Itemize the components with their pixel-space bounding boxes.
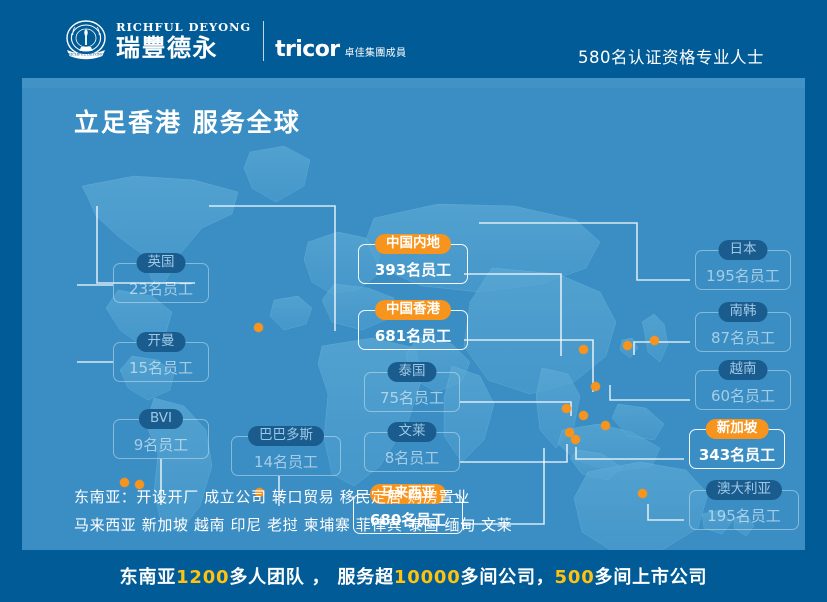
label-country-name: 澳大利亚 bbox=[706, 480, 782, 500]
label-country-name: 越南 bbox=[719, 360, 768, 380]
location-label-bvi[interactable]: BVI9名员工 bbox=[113, 419, 209, 459]
label-country-name: 中国内地 bbox=[375, 234, 451, 254]
service-note-line: 东南亚：开设开厂 成立公司 转口贸易 移民定居 购房置业 bbox=[74, 483, 512, 511]
location-label-barbados[interactable]: 巴巴多斯14名员工 bbox=[231, 436, 341, 476]
label-country-name: 泰国 bbox=[388, 362, 437, 382]
service-notes: 东南亚：开设开厂 成立公司 转口贸易 移民定居 购房置业 马来西亚 新加坡 越南… bbox=[74, 483, 512, 539]
label-box: 澳大利亚195名员工 bbox=[689, 490, 799, 530]
label-box: 泰国75名员工 bbox=[364, 372, 460, 412]
label-box: 日本195名员工 bbox=[695, 250, 791, 290]
location-label-japan[interactable]: 日本195名员工 bbox=[695, 250, 791, 290]
footer-text-segment: 东南亚 bbox=[120, 567, 176, 588]
slide-root: RICHFUL DEYONG RICHFUL DEYONG 瑞豐德永 trico… bbox=[0, 0, 827, 602]
footer-summary: 东南亚1200多人团队 ， 服务超10000多间公司，500多间上市公司 bbox=[120, 563, 708, 589]
label-headcount: 681名员工 bbox=[375, 328, 451, 344]
footer-text-segment: 多间上市公司 bbox=[595, 567, 708, 588]
label-box: 开曼15名员工 bbox=[113, 342, 209, 382]
label-country-name: 中国香港 bbox=[375, 300, 451, 320]
label-headcount: 14名员工 bbox=[254, 454, 318, 470]
footer-text-segment: 多人团队 ， 服务超 bbox=[229, 567, 394, 588]
location-label-uk[interactable]: 英国23名员工 bbox=[113, 263, 209, 303]
footer-accent-number: 500 bbox=[555, 567, 595, 588]
partner-subtitle: 卓佳集團成員 bbox=[344, 48, 406, 60]
location-label-korea[interactable]: 南韩87名员工 bbox=[695, 312, 791, 352]
label-headcount: 23名员工 bbox=[129, 281, 193, 297]
label-country-name: 英国 bbox=[137, 253, 186, 273]
label-headcount: 15名员工 bbox=[129, 360, 193, 376]
label-headcount: 9名员工 bbox=[134, 437, 189, 453]
location-label-cayman[interactable]: 开曼15名员工 bbox=[113, 342, 209, 382]
dot-singapore bbox=[571, 435, 580, 444]
svg-text:RICHFUL DEYONG: RICHFUL DEYONG bbox=[68, 52, 104, 56]
dot-vietnam bbox=[579, 411, 588, 420]
label-country-name: BVI bbox=[139, 409, 183, 429]
location-label-brunei[interactable]: 文莱8名员工 bbox=[364, 432, 460, 472]
label-box: 文莱8名员工 bbox=[364, 432, 460, 472]
label-box: 越南60名员工 bbox=[695, 370, 791, 410]
dot-uk bbox=[254, 323, 263, 332]
footer-accent-number: 10000 bbox=[394, 567, 461, 588]
label-country-name: 开曼 bbox=[137, 332, 186, 352]
label-headcount: 195名员工 bbox=[706, 268, 780, 284]
dot-brunei bbox=[601, 421, 610, 430]
label-box: 中国内地393名员工 bbox=[358, 244, 468, 284]
label-headcount: 87名员工 bbox=[711, 330, 775, 346]
crest-icon: RICHFUL DEYONG bbox=[63, 19, 109, 63]
label-box: BVI9名员工 bbox=[113, 419, 209, 459]
footer-accent-number: 1200 bbox=[176, 567, 229, 588]
label-headcount: 343名员工 bbox=[699, 447, 775, 463]
label-country-name: 巴巴多斯 bbox=[248, 426, 324, 446]
header-tagline: 580名认证资格专业人士 bbox=[578, 44, 764, 68]
label-box: 英国23名员工 bbox=[113, 263, 209, 303]
dot-thailand bbox=[562, 404, 571, 413]
dot-australia bbox=[638, 489, 647, 498]
map-overlay: 英国23名员工开曼15名员工BVI9名员工巴巴多斯14名员工中国内地393名员工… bbox=[22, 78, 805, 550]
dot-korea bbox=[623, 341, 632, 350]
label-headcount: 75名员工 bbox=[380, 390, 444, 406]
location-label-thailand[interactable]: 泰国75名员工 bbox=[364, 372, 460, 412]
footer-text-segment: 多间公司， bbox=[461, 567, 555, 588]
location-label-mainland[interactable]: 中国内地393名员工 bbox=[358, 244, 468, 284]
label-country-name: 日本 bbox=[719, 240, 768, 260]
dot-hongkong bbox=[591, 382, 600, 391]
label-box: 巴巴多斯14名员工 bbox=[231, 436, 341, 476]
label-headcount: 195名员工 bbox=[707, 508, 781, 524]
partner-logo-text: tricor bbox=[275, 39, 339, 61]
label-headcount: 60名员工 bbox=[711, 388, 775, 404]
location-label-hongkong[interactable]: 中国香港681名员工 bbox=[358, 310, 468, 350]
label-headcount: 393名员工 bbox=[375, 262, 451, 278]
label-country-name: 南韩 bbox=[719, 302, 768, 322]
service-note-line: 马来西亚 新加坡 越南 印尼 老挝 柬埔寨 菲律宾 泰国 缅甸 文莱 bbox=[74, 511, 512, 539]
location-label-singapore[interactable]: 新加坡343名员工 bbox=[689, 429, 785, 469]
label-headcount: 8名员工 bbox=[385, 450, 440, 466]
logo-english: RICHFUL DEYONG bbox=[116, 21, 251, 33]
location-label-australia[interactable]: 澳大利亚195名员工 bbox=[689, 490, 799, 530]
label-box: 南韩87名员工 bbox=[695, 312, 791, 352]
label-box: 新加坡343名员工 bbox=[689, 429, 785, 469]
label-country-name: 新加坡 bbox=[706, 419, 769, 439]
dot-japan bbox=[650, 336, 659, 345]
logo-divider bbox=[263, 21, 264, 61]
footer-bar: 东南亚1200多人团队 ， 服务超10000多间公司，500多间上市公司 bbox=[0, 550, 827, 602]
logo-chinese: 瑞豐德永 bbox=[116, 35, 251, 62]
location-label-vietnam[interactable]: 越南60名员工 bbox=[695, 370, 791, 410]
dot-mainland bbox=[579, 345, 588, 354]
header-bar: RICHFUL DEYONG RICHFUL DEYONG 瑞豐德永 trico… bbox=[0, 0, 827, 78]
label-box: 中国香港681名员工 bbox=[358, 310, 468, 350]
label-country-name: 文莱 bbox=[388, 422, 437, 442]
brand-logo[interactable]: RICHFUL DEYONG RICHFUL DEYONG 瑞豐德永 trico… bbox=[63, 19, 406, 63]
